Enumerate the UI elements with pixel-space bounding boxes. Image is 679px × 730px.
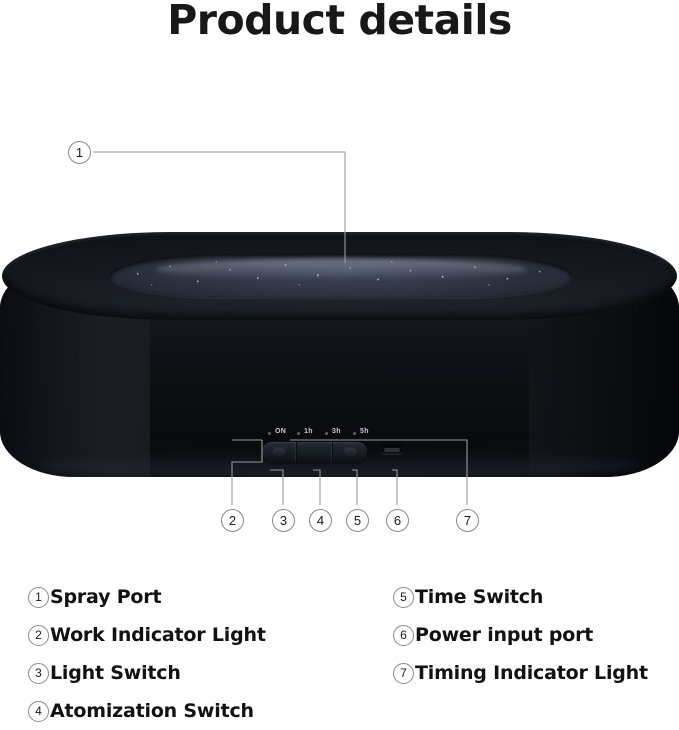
legend-number-2: 2 xyxy=(28,625,49,646)
callout-number-5: 5 xyxy=(346,509,369,532)
legend-column-right: 5Time Switch6Power input port7Timing Ind… xyxy=(393,578,648,692)
legend-label-5: Time Switch xyxy=(415,586,543,608)
callout-number-3: 3 xyxy=(272,509,295,532)
callout-number-4: 4 xyxy=(309,509,332,532)
legend-label-2: Work Indicator Light xyxy=(50,624,266,646)
leader-line-1 xyxy=(93,152,345,263)
legend-item-2: 2Work Indicator Light xyxy=(28,616,266,654)
legend-item-6: 6Power input port xyxy=(393,616,648,654)
leader-line-6 xyxy=(392,470,397,505)
legend-item-5: 5Time Switch xyxy=(393,578,648,616)
legend-number-4: 4 xyxy=(28,701,49,722)
legend: 1Spray Port2Work Indicator Light3Light S… xyxy=(0,578,679,720)
leader-line-5 xyxy=(352,470,357,505)
legend-number-7: 7 xyxy=(393,663,414,684)
callout-number-1: 1 xyxy=(68,141,91,164)
legend-label-3: Light Switch xyxy=(50,662,181,684)
legend-column-left: 1Spray Port2Work Indicator Light3Light S… xyxy=(28,578,266,730)
legend-item-4: 4Atomization Switch xyxy=(28,692,266,730)
legend-label-7: Timing Indicator Light xyxy=(415,662,648,684)
leader-line-2 xyxy=(232,440,262,505)
product-details-page: Product details ON 1h 3h 5h xyxy=(0,0,679,720)
legend-item-3: 3Light Switch xyxy=(28,654,266,692)
legend-label-6: Power input port xyxy=(415,624,593,646)
leader-line-4 xyxy=(313,470,320,505)
callout-number-2: 2 xyxy=(221,509,244,532)
legend-item-7: 7Timing Indicator Light xyxy=(393,654,648,692)
legend-number-5: 5 xyxy=(393,587,414,608)
legend-number-6: 6 xyxy=(393,625,414,646)
callout-number-7: 7 xyxy=(456,509,479,532)
callout-number-6: 6 xyxy=(386,509,409,532)
legend-label-4: Atomization Switch xyxy=(50,700,254,722)
legend-label-1: Spray Port xyxy=(50,586,161,608)
legend-item-1: 1Spray Port xyxy=(28,578,266,616)
legend-number-1: 1 xyxy=(28,587,49,608)
leader-line-7 xyxy=(290,440,467,505)
legend-number-3: 3 xyxy=(28,663,49,684)
leader-line-3 xyxy=(270,470,283,505)
